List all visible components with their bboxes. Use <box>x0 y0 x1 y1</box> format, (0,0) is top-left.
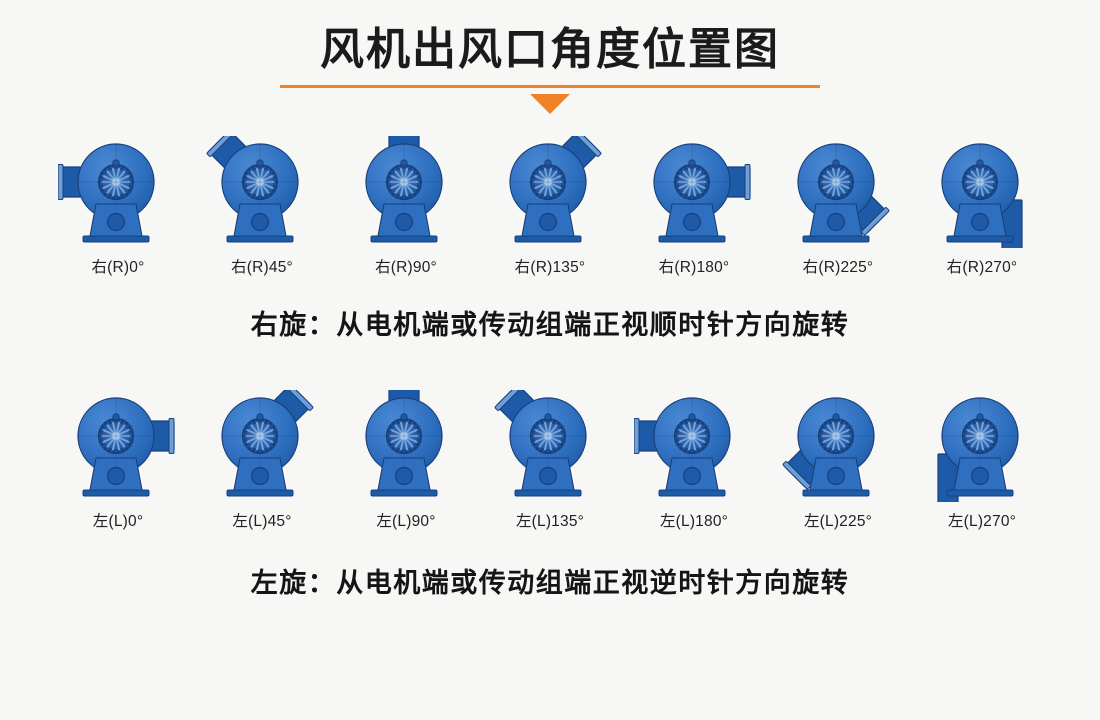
fan-row-left: 左(L)0° <box>0 390 1100 531</box>
fan-outlet-icon <box>922 390 1042 502</box>
down-caret-icon <box>530 94 570 114</box>
fan-outlet-icon <box>58 390 178 502</box>
fan-angle-label: 左(L)90° <box>376 509 435 531</box>
fan-diagram-cell: 右(R)270° <box>916 136 1048 277</box>
fan-outlet-icon <box>490 136 610 248</box>
fan-angle-label: 右(R)135° <box>515 255 586 277</box>
fan-diagram-cell: 左(L)0° <box>52 390 184 531</box>
fan-outlet-icon <box>490 390 610 502</box>
fan-angle-label: 左(L)45° <box>232 509 291 531</box>
fan-diagram-cell: 左(L)45° <box>196 390 328 531</box>
fan-angle-label: 右(R)0° <box>91 255 144 277</box>
fan-row-right: 右(R)0° <box>0 136 1100 277</box>
fan-angle-label: 右(R)45° <box>231 255 293 277</box>
fan-diagram-cell: 右(R)135° <box>484 136 616 277</box>
page-title: 风机出风口角度位置图 <box>0 22 1100 77</box>
page-header: 风机出风口角度位置图 <box>0 0 1100 114</box>
fan-angle-label: 左(L)0° <box>93 509 143 531</box>
fan-angle-label: 左(L)135° <box>516 509 584 531</box>
fan-outlet-icon <box>778 136 898 248</box>
fan-angle-label: 左(L)225° <box>804 509 872 531</box>
fan-angle-label: 右(R)225° <box>803 255 874 277</box>
fan-outlet-icon <box>202 390 322 502</box>
section-right-rotation: 右(R)0° <box>0 136 1100 342</box>
fan-outlet-icon <box>346 136 466 248</box>
section-left-rotation: 左(L)0° <box>0 390 1100 600</box>
fan-diagram-cell: 左(L)90° <box>340 390 472 531</box>
fan-diagram-cell: 右(R)0° <box>52 136 184 277</box>
fan-diagram-cell: 左(L)270° <box>916 390 1048 531</box>
fan-diagram-cell: 右(R)45° <box>196 136 328 277</box>
fan-diagram-cell: 右(R)180° <box>628 136 760 277</box>
fan-angle-label: 右(R)180° <box>659 255 730 277</box>
section-caption-left: 左旋：从电机端或传动组端正视逆时针方向旋转 <box>0 561 1100 600</box>
fan-angle-label: 左(L)180° <box>660 509 728 531</box>
fan-diagram-cell: 左(L)180° <box>628 390 760 531</box>
fan-outlet-icon <box>346 390 466 502</box>
section-caption-right: 右旋：从电机端或传动组端正视顺时针方向旋转 <box>0 303 1100 342</box>
fan-diagram-cell: 左(L)225° <box>772 390 904 531</box>
fan-diagram-cell: 右(R)225° <box>772 136 904 277</box>
fan-outlet-icon <box>634 136 754 248</box>
fan-angle-label: 右(R)270° <box>947 255 1018 277</box>
title-underline-rule <box>280 85 820 88</box>
fan-outlet-icon <box>58 136 178 248</box>
fan-angle-label: 右(R)90° <box>375 255 437 277</box>
fan-outlet-icon <box>922 136 1042 248</box>
fan-diagram-cell: 左(L)135° <box>484 390 616 531</box>
fan-angle-label: 左(L)270° <box>948 509 1016 531</box>
fan-diagram-cell: 右(R)90° <box>340 136 472 277</box>
fan-outlet-icon <box>202 136 322 248</box>
fan-outlet-icon <box>778 390 898 502</box>
fan-outlet-icon <box>634 390 754 502</box>
